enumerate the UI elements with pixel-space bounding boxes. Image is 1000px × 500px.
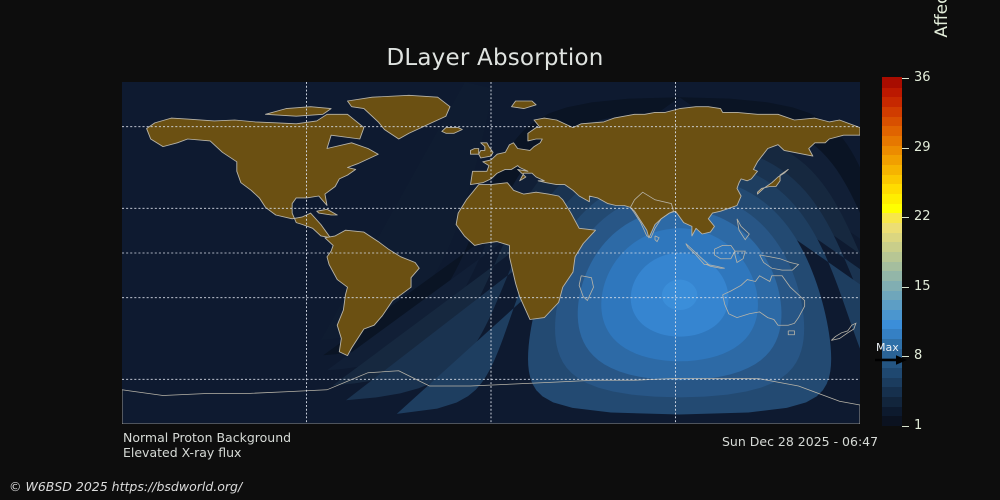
colorbar[interactable] <box>882 78 902 426</box>
colorbar-band-29 <box>882 135 902 145</box>
colorbar-band-16 <box>882 261 902 271</box>
map-canvas <box>122 82 860 424</box>
colorbar-band-14 <box>882 280 902 290</box>
colorbar-tick-label: 1 <box>914 419 922 432</box>
world-map-panel[interactable] <box>122 82 860 424</box>
colorbar-tick-mark <box>902 426 909 427</box>
colorbar-band-6 <box>882 358 902 368</box>
colorbar-band-7 <box>882 348 902 358</box>
colorbar-band-20 <box>882 222 902 232</box>
colorbar-tick-label: 8 <box>914 349 922 362</box>
colorbar-tick-label: 29 <box>914 141 931 154</box>
page-title: DLayer Absorption <box>0 45 990 71</box>
colorbar-band-8 <box>882 338 902 348</box>
colorbar-tick-mark <box>902 217 909 218</box>
colorbar-tick-22: 22 <box>902 217 931 218</box>
colorbar-tick-36: 36 <box>902 78 931 79</box>
colorbar-tick-8: 8 <box>902 356 922 357</box>
colorbar-tick-mark <box>902 287 909 288</box>
colorbar-tick-label: 36 <box>914 71 931 84</box>
absorption-contour-level-12 <box>662 280 697 310</box>
colorbar-tick-mark <box>902 148 909 149</box>
colorbar-band-32 <box>882 106 902 116</box>
colorbar-tick-1: 1 <box>902 426 922 427</box>
colorbar-band-10 <box>882 319 902 329</box>
colorbar-band-13 <box>882 290 902 300</box>
colorbar-band-24 <box>882 184 902 194</box>
colorbar-band-28 <box>882 145 902 155</box>
colorbar-band-31 <box>882 116 902 126</box>
colorbar-tick-15: 15 <box>902 287 931 288</box>
colorbar-band-5 <box>882 367 902 377</box>
colorbar-band-3 <box>882 387 902 397</box>
colorbar-band-21 <box>882 213 902 223</box>
dlayer-absorption-chart: DLayer Absorption 1815222936 Affected Fr… <box>0 0 1000 500</box>
colorbar-band-30 <box>882 126 902 136</box>
timestamp: Sun Dec 28 2025 - 06:47 <box>722 434 878 449</box>
colorbar-band-23 <box>882 193 902 203</box>
colorbar-ticks: 1815222936 <box>902 78 942 426</box>
colorbar-band-19 <box>882 232 902 242</box>
colorbar-band-17 <box>882 251 902 261</box>
colorbar-band-11 <box>882 309 902 319</box>
status-line-proton: Normal Proton Background <box>123 430 291 445</box>
colorbar-band-27 <box>882 155 902 165</box>
colorbar-band-0 <box>882 416 902 426</box>
colorbar-band-34 <box>882 87 902 97</box>
land-ireland <box>471 149 479 155</box>
colorbar-band-35 <box>882 77 902 87</box>
copyright-notice: © W6BSD 2025 https://bsdworld.org/ <box>9 479 242 494</box>
colorbar-band-22 <box>882 203 902 213</box>
colorbar-tick-label: 22 <box>914 210 931 223</box>
colorbar-gradient <box>882 78 902 426</box>
colorbar-band-33 <box>882 97 902 107</box>
colorbar-band-4 <box>882 377 902 387</box>
colorbar-band-15 <box>882 271 902 281</box>
colorbar-band-18 <box>882 242 902 252</box>
colorbar-band-2 <box>882 396 902 406</box>
colorbar-tick-label: 15 <box>914 280 931 293</box>
status-line-xray: Elevated X-ray flux <box>123 445 241 460</box>
colorbar-tick-29: 29 <box>902 148 931 149</box>
colorbar-band-12 <box>882 300 902 310</box>
colorbar-tick-mark <box>902 78 909 79</box>
colorbar-band-1 <box>882 406 902 416</box>
colorbar-band-25 <box>882 174 902 184</box>
colorbar-band-26 <box>882 164 902 174</box>
colorbar-band-9 <box>882 329 902 339</box>
colorbar-tick-mark <box>902 356 909 357</box>
colorbar-axis-label: Affected Frequency (MHz) <box>930 0 954 102</box>
